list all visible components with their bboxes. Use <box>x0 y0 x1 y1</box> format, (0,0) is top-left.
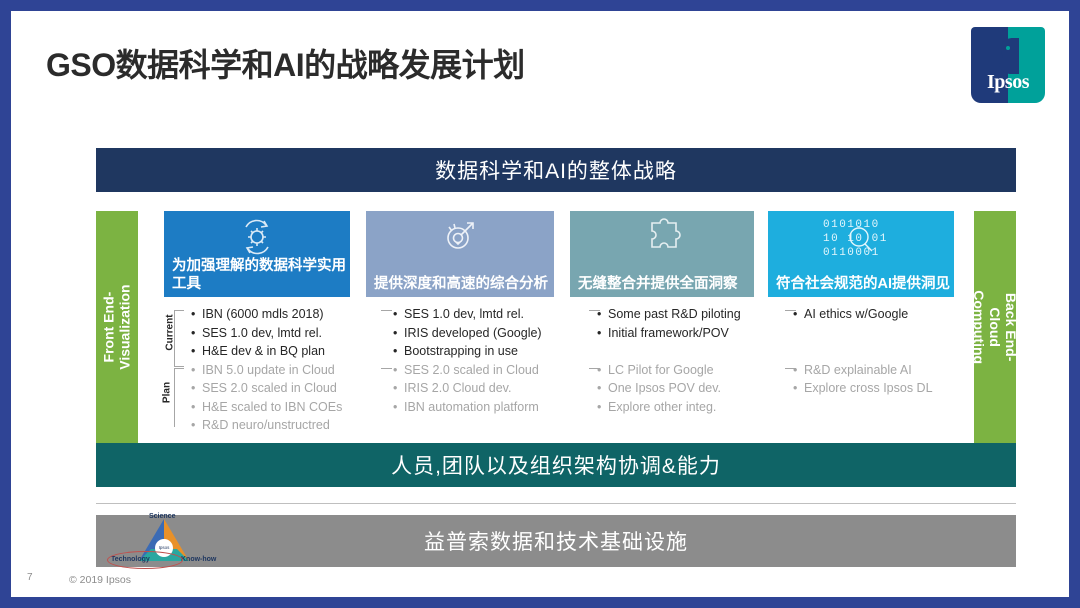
list-item: •R&D neuro/unstructred <box>191 416 342 435</box>
column-header-3[interactable]: 0101010 10 10 01 0110001 符合社会规范的AI提供洞见 <box>768 211 954 297</box>
column-header-1[interactable]: 提供深度和高速的综合分析 <box>366 211 554 297</box>
puzzle-piece-icon <box>570 215 754 259</box>
list-item: •SES 1.0 dev, lmtd rel. <box>191 324 342 343</box>
column-list-0: •IBN (6000 mdls 2018) •SES 1.0 dev, lmtd… <box>191 305 342 435</box>
plan-tick-1 <box>381 368 392 369</box>
list-item: •SES 2.0 scaled in Cloud <box>191 379 342 398</box>
people-org-bar: 人员,团队以及组织架构协调&能力 <box>96 443 1016 487</box>
list-item: •SES 2.0 scaled in Cloud <box>393 361 542 380</box>
face-profile-icon <box>993 36 1025 76</box>
slide-canvas: GSO数据科学和AI的战略发展计划 Ipsos 数据科学和AI的整体战略 Fro… <box>11 11 1069 597</box>
list-item: •SES 1.0 dev, lmtd rel. <box>393 305 542 324</box>
front-end-side-bar: Front End- Visualization <box>96 211 138 443</box>
plan-group-bracket <box>174 368 184 427</box>
technology-highlight-ellipse <box>107 551 183 569</box>
column-header-label-1: 提供深度和高速的综合分析 <box>374 275 550 293</box>
group-label-plan: Plan <box>162 373 173 413</box>
logo-wordmark: Ipsos <box>971 71 1045 94</box>
svg-text:0110001: 0110001 <box>823 247 880 259</box>
back-end-side-bar: Back End- Cloud Computing <box>974 211 1016 443</box>
copyright-notice: © 2019 Ipsos <box>69 574 131 586</box>
gear-cycle-icon <box>164 215 350 259</box>
list-item: •Bootstrapping in use <box>393 342 542 361</box>
list-item: •IRIS 2.0 Cloud dev. <box>393 379 542 398</box>
column-header-2[interactable]: 无缝整合并提供全面洞察 <box>570 211 754 297</box>
list-item: •One Ipsos POV dev. <box>597 379 741 398</box>
list-item: •Explore other integ. <box>597 398 741 417</box>
column-list-1: •SES 1.0 dev, lmtd rel. •IRIS developed … <box>393 305 542 416</box>
column-list-3: •AI ethics w/Google •R&D explainable AI … <box>793 305 933 398</box>
front-end-label: Front End- Visualization <box>101 284 133 369</box>
current-group-bracket <box>174 310 184 367</box>
people-org-label: 人员,团队以及组织架构协调&能力 <box>391 450 721 480</box>
target-arrow-icon <box>366 215 554 259</box>
ipsos-logo: Ipsos <box>971 27 1045 103</box>
overall-strategy-label: 数据科学和AI的整体战略 <box>435 155 677 185</box>
list-item: •IBN automation platform <box>393 398 542 417</box>
infrastructure-label: 益普索数据和技术基础设施 <box>424 526 688 556</box>
triangle-label-knowhow: Know-how <box>181 556 216 563</box>
infrastructure-bar: 益普索数据和技术基础设施 <box>96 515 1016 567</box>
svg-text:10 10 01: 10 10 01 <box>823 233 888 245</box>
binary-magnifier-icon: 0101010 10 10 01 0110001 <box>768 215 954 261</box>
list-item: •R&D explainable AI <box>793 361 933 380</box>
list-item: •IBN 5.0 update in Cloud <box>191 361 342 380</box>
list-item: •Initial framework/POV <box>597 324 741 343</box>
column-header-label-0: 为加强理解的数据科学实用工具 <box>172 257 346 293</box>
column-header-0[interactable]: 为加强理解的数据科学实用工具 <box>164 211 350 297</box>
list-spacer <box>793 324 933 343</box>
list-item: •IRIS developed (Google) <box>393 324 542 343</box>
back-end-label: Back End- Cloud Computing <box>971 290 1019 364</box>
list-item: •Explore cross Ipsos DL <box>793 379 933 398</box>
svg-text:0101010: 0101010 <box>823 219 880 231</box>
page-number: 7 <box>27 572 33 583</box>
list-item: •IBN (6000 mdls 2018) <box>191 305 342 324</box>
section-divider <box>96 503 1016 504</box>
overall-strategy-bar: 数据科学和AI的整体战略 <box>96 148 1016 192</box>
triangle-label-science: Science <box>149 513 175 520</box>
science-technology-knowhow-logo: Ipsos Science Technology Know-how <box>109 513 221 569</box>
column-header-label-3: 符合社会规范的AI提供洞见 <box>776 275 950 293</box>
list-spacer <box>793 342 933 361</box>
list-item: •H&E dev & in BQ plan <box>191 342 342 361</box>
current-tick-1 <box>381 310 392 311</box>
column-header-label-2: 无缝整合并提供全面洞察 <box>578 275 750 293</box>
list-item: •Some past R&D piloting <box>597 305 741 324</box>
list-spacer <box>597 342 741 361</box>
page-title: GSO数据科学和AI的战略发展计划 <box>46 40 525 86</box>
list-item: •AI ethics w/Google <box>793 305 933 324</box>
column-list-2: •Some past R&D piloting •Initial framewo… <box>597 305 741 416</box>
list-item: •H&E scaled to IBN COEs <box>191 398 342 417</box>
list-item: •LC Pilot for Google <box>597 361 741 380</box>
